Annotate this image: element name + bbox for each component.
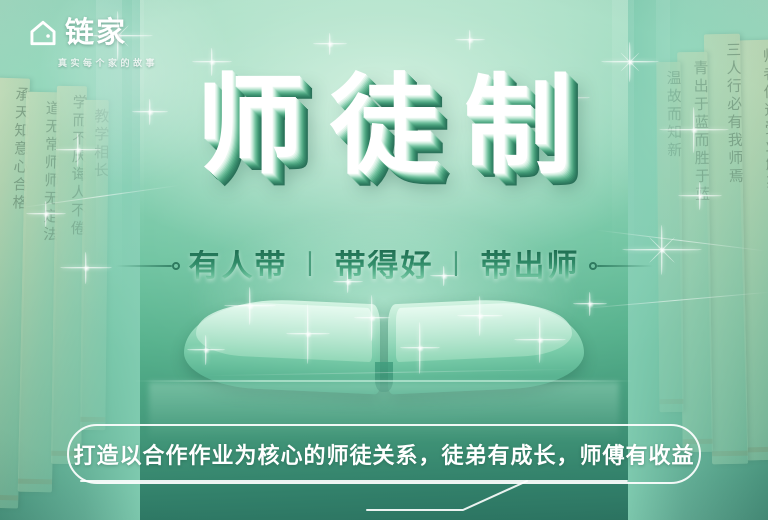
poster-subtitle-row: 有人带丨带得好丨带出师: [0, 250, 768, 281]
subtitle-decoration-right: [589, 262, 653, 270]
poster-title: 师徒制: [170, 72, 598, 180]
brand-logo[interactable]: 链家 真实每个家的故事: [28, 18, 188, 69]
book-sheet: [196, 300, 372, 362]
poster-subtitle: 有人带丨带得好丨带出师: [189, 250, 580, 281]
subtitle-item-2: 带得好: [335, 248, 434, 283]
bottom-banner-text: 打造以合作作业为核心的师徒关系，徒弟有成长，师傅有收益: [73, 438, 694, 470]
book-sheet: [396, 300, 572, 362]
subtitle-decoration-left: [116, 262, 180, 270]
subtitle-item-1: 有人带: [189, 248, 288, 283]
subtitle-separator: 丨: [443, 252, 472, 279]
brand-wordmark: 链家: [65, 19, 127, 48]
brand-tagline: 真实每个家的故事: [28, 56, 188, 69]
brand-logo-row: 链家: [28, 18, 188, 48]
decoration-line: [597, 265, 653, 267]
subtitle-item-3: 带出师: [481, 248, 580, 283]
decoration-circle-icon: [172, 262, 180, 270]
decoration-circle-icon: [589, 262, 597, 270]
decoration-line: [116, 265, 172, 267]
poster-title-wrap: 师徒制: [0, 72, 768, 180]
house-outline-icon: [28, 18, 58, 48]
subtitle-separator: 丨: [297, 252, 326, 279]
poster-canvas: 承天知意心合格 道无常师师无定法 学而不厌诲人不倦 教学相长 师者传道受业解惑 …: [0, 0, 768, 520]
bottom-banner: 打造以合作作业为核心的师徒关系，徒弟有成长，师傅有收益: [67, 424, 701, 484]
